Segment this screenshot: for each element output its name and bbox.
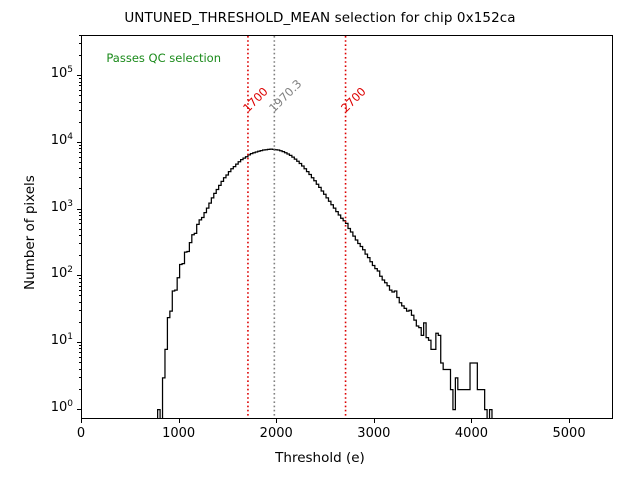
y-tick-label: 104 [13,133,73,148]
x-tick [374,419,375,423]
x-tick-label: 1000 [139,426,219,441]
threshold-vlines [248,36,346,419]
histogram-step-line [158,149,492,419]
x-tick-label: 2000 [236,426,316,441]
x-tick [179,419,180,423]
x-axis-label: Threshold (e) [0,450,640,466]
x-tick-label: 5000 [529,426,609,441]
plot-area: Passes QC selection [81,35,613,419]
x-tick [81,419,82,423]
chart-title: UNTUNED_THRESHOLD_MEAN selection for chi… [0,10,640,26]
histogram-figure: UNTUNED_THRESHOLD_MEAN selection for chi… [0,0,640,480]
x-tick-label: 0 [41,426,121,441]
y-tick-label: 101 [13,333,73,348]
x-tick [471,419,472,423]
x-tick-label: 4000 [431,426,511,441]
y-tick-label: 102 [13,266,73,281]
y-tick-label: 103 [13,200,73,215]
x-tick-label: 3000 [334,426,414,441]
y-tick-label: 105 [13,66,73,81]
qc-annotation: Passes QC selection [106,51,221,65]
x-tick [276,419,277,423]
y-tick-label: 100 [13,400,73,415]
x-tick [569,419,570,423]
histogram-svg [82,36,613,419]
